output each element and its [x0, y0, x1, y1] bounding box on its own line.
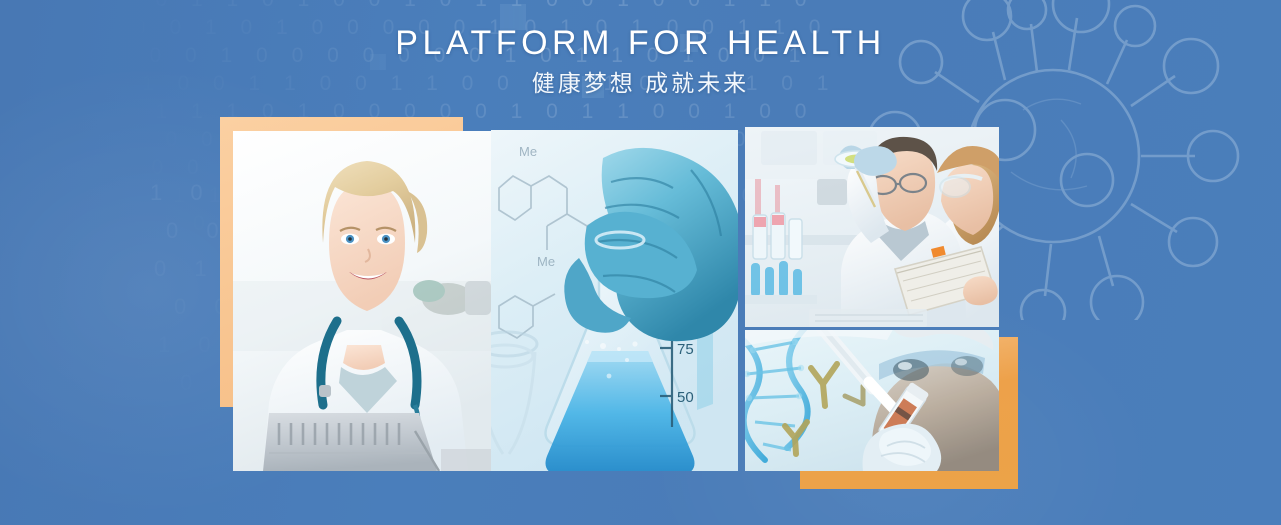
photo-gloved-hand-holding-blue-flask: Me Me O OH: [491, 130, 738, 471]
svg-text:50: 50: [677, 389, 694, 406]
svg-text:Me: Me: [519, 144, 537, 159]
photo-two-scientists-examining-sample: [745, 127, 999, 327]
banner-heading-group: PLATFORM FOR HEALTH 健康梦想 成就未来: [0, 24, 1281, 98]
photo-researcher-with-pipette-and-dna: [745, 330, 999, 471]
page-subtitle: 健康梦想 成就未来: [0, 68, 1281, 98]
health-platform-banner: 1 0 1 1 0 1 0 0 1 0 1 1 0 0 1 0 0 1 1 0 …: [0, 0, 1281, 525]
svg-text:1 0 1 1 0 1 0 0 1 0 1 1 0 0 1: 1 0 1 1 0 1 0 0 1 0 1 1 0 0 1 0 0 1 1 0: [120, 0, 815, 11]
photo-smiling-female-doctor-at-monitor: [233, 131, 491, 471]
page-title: PLATFORM FOR HEALTH: [0, 24, 1281, 62]
svg-text:Me: Me: [537, 254, 555, 269]
svg-text:75: 75: [677, 341, 694, 358]
